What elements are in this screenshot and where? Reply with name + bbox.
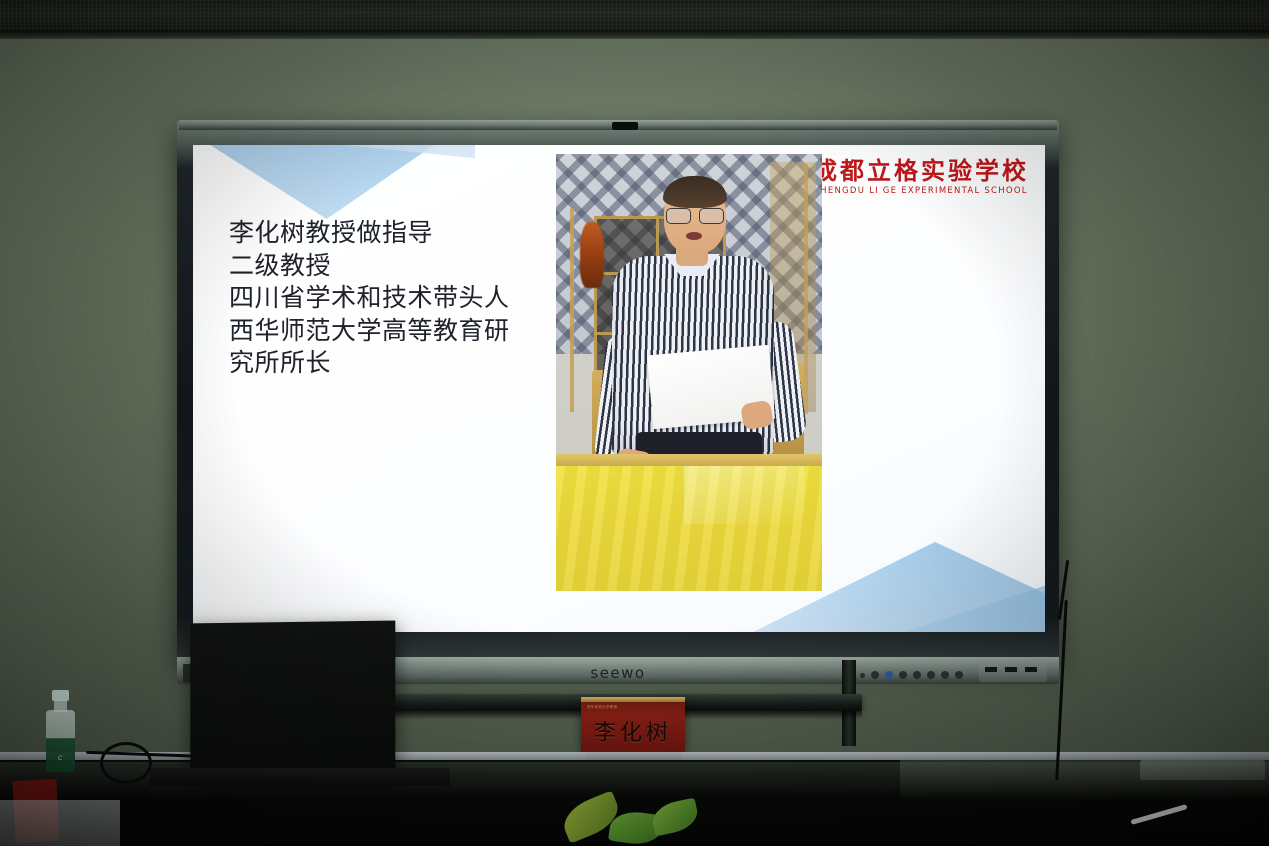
slide-text-line-2: 二级教授	[229, 250, 559, 283]
cable-loop	[100, 742, 152, 784]
volume-down-button[interactable]	[913, 671, 921, 679]
slide-decoration-top-left	[207, 145, 437, 219]
school-name-cn: 成都立格实验学校	[813, 159, 1029, 183]
photo-glasses-icon	[666, 208, 724, 223]
photo-decorative-vase	[580, 222, 604, 288]
potted-plant	[556, 796, 716, 846]
display-screen[interactable]: CHENGDU LI GE 成都立格实验学校 CHENGDU LI GE EXP…	[193, 145, 1045, 632]
desk-nameplate: 西华师范大学教授 李化树	[581, 697, 685, 753]
laptop-base	[150, 768, 450, 786]
power-button[interactable]	[871, 671, 879, 679]
plant-leaf	[649, 798, 700, 837]
nameplate-gold-trim	[581, 697, 685, 702]
school-logo-text: 成都立格实验学校 CHENGDU LI GE EXPERIMENTAL SCHO…	[813, 159, 1029, 196]
photo-desk-highlight	[684, 466, 804, 524]
volume-up-button[interactable]	[927, 671, 935, 679]
ceiling-band-edge	[0, 30, 1269, 39]
back-button[interactable]	[955, 671, 963, 679]
slide-text-line-1: 李化树教授做指导	[229, 217, 559, 250]
display-button-row[interactable]	[860, 671, 963, 679]
slide-text-block: 李化树教授做指导 二级教授 四川省学术和技术带头人 西华师范大学高等教育研 究所…	[229, 217, 559, 380]
camera-icon	[612, 122, 638, 130]
menu-button[interactable]	[899, 671, 907, 679]
slide-text-line-5: 究所所长	[229, 347, 559, 380]
slide-text-line-3: 四川省学术和技术带头人	[229, 282, 559, 315]
ceiling-acoustic-band	[0, 0, 1269, 33]
chair-backrest	[1140, 760, 1265, 780]
bottle-label: C	[48, 754, 72, 764]
presentation-slide: CHENGDU LI GE 成都立格实验学校 CHENGDU LI GE EXP…	[193, 145, 1045, 632]
source-button[interactable]	[941, 671, 949, 679]
paper-stack	[0, 800, 120, 846]
water-bottle: C	[44, 690, 77, 782]
slide-text-line-4: 西华师范大学高等教育研	[229, 315, 559, 348]
interactive-flat-panel[interactable]: CHENGDU LI GE 成都立格实验学校 CHENGDU LI GE EXP…	[177, 120, 1059, 660]
home-button[interactable]	[885, 671, 893, 679]
display-port-panel[interactable]	[979, 663, 1047, 682]
speaker-photo	[556, 154, 822, 591]
nameplate-subtitle: 西华师范大学教授	[587, 704, 617, 709]
photo-mouth	[686, 232, 702, 240]
nameplate-name: 李化树	[581, 715, 685, 747]
indicator-led-icon	[860, 673, 865, 678]
photo-gold-frame-right	[804, 164, 808, 414]
school-name-en: CHENGDU LI GE EXPERIMENTAL SCHOOL	[813, 187, 1029, 196]
screenshot-stage: CHENGDU LI GE 成都立格实验学校 CHENGDU LI GE EXP…	[0, 0, 1269, 846]
photo-gold-frame-left	[570, 208, 574, 418]
